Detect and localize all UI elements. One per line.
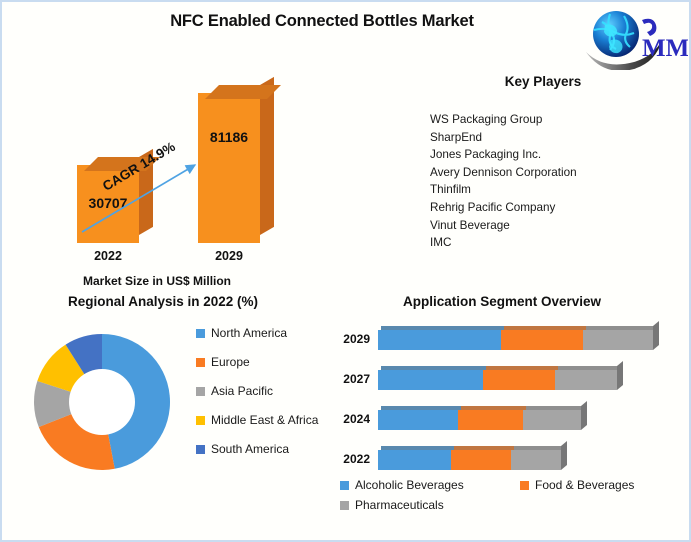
stacked-segment-pharmaceuticals — [511, 450, 561, 470]
legend-item-alcoholic-beverages: Alcoholic Beverages — [340, 478, 520, 492]
list-item: SharpEnd — [422, 129, 684, 147]
page-title: NFC Enabled Connected Bottles Market — [102, 12, 542, 31]
legend-label: Europe — [211, 355, 250, 370]
legend-label: Food & Beverages — [535, 478, 634, 492]
key-players-list: WS Packaging Group SharpEnd Jones Packag… — [422, 111, 684, 252]
stacked-segment-top — [381, 366, 486, 370]
stacked-segment-top — [586, 326, 656, 330]
list-item: Rehrig Pacific Company — [422, 199, 684, 217]
stacked-segment-food-beverages — [451, 450, 511, 470]
legend-swatch-alcoholic-beverages — [340, 481, 349, 490]
bar-2022-value: 30707 — [77, 195, 139, 211]
stacked-bar-year-label: 2027 — [334, 372, 370, 386]
mmr-logo: MMR — [580, 8, 688, 70]
stacked-segment-alcoholic-beverages — [378, 370, 483, 390]
bar-2029 — [198, 85, 274, 243]
stacked-segment-food-beverages — [483, 370, 555, 390]
application-segment-chart: Application Segment Overview 20292027202… — [332, 294, 688, 540]
market-size-bar-chart: 30707 2022 81186 2029 CAGR 14.9% Market … — [12, 77, 332, 287]
stacked-segment-top — [504, 326, 586, 330]
stacked-segment-top — [558, 366, 620, 370]
legend-label: Alcoholic Beverages — [355, 478, 464, 492]
stacked-segment-food-beverages — [501, 330, 583, 350]
legend-label: Pharmaceuticals — [355, 498, 444, 512]
stacked-bar-row: 2024 — [332, 402, 688, 442]
legend-swatch-food-beverages — [520, 481, 529, 490]
stacked-segment-top — [514, 446, 564, 450]
list-item: Avery Dennison Corporation — [422, 164, 684, 182]
cagr-arrow-icon — [12, 77, 332, 287]
stacked-bar-rows: 2029202720242022 — [332, 322, 688, 482]
stacked-segment-pharmaceuticals — [555, 370, 617, 390]
stacked-segment-top — [461, 406, 526, 410]
stacked-bar-row: 2027 — [332, 362, 688, 402]
list-item: WS Packaging Group — [422, 111, 684, 129]
donut-chart-title: Regional Analysis in 2022 (%) — [18, 294, 308, 309]
stacked-bar-year-label: 2029 — [334, 332, 370, 346]
legend-item-europe: Europe — [196, 355, 326, 370]
stacked-segment-top — [526, 406, 584, 410]
bar-2029-front — [198, 93, 260, 243]
legend-swatch-asia-pacific — [196, 387, 205, 396]
stacked-segment-top — [381, 446, 454, 450]
stacked-bar-end-cap — [653, 321, 659, 350]
list-item: IMC — [422, 234, 684, 252]
list-item: Vinut Beverage — [422, 217, 684, 235]
legend-swatch-pharmaceuticals — [340, 501, 349, 510]
stacked-segment-top — [381, 326, 504, 330]
legend-label: South America — [211, 442, 289, 457]
stacked-bar — [378, 406, 581, 430]
legend-label: Asia Pacific — [211, 384, 273, 399]
stacked-bar-row: 2022 — [332, 442, 688, 482]
stacked-segment-top — [454, 446, 514, 450]
legend-swatch-europe — [196, 358, 205, 367]
stacked-bar-year-label: 2024 — [334, 412, 370, 426]
stacked-segment-food-beverages — [458, 410, 523, 430]
list-item: Thinfilm — [422, 181, 684, 199]
legend-item-food-beverages: Food & Beverages — [520, 478, 680, 492]
legend-item-south-america: South America — [196, 442, 326, 457]
legend-item-north-america: North America — [196, 326, 326, 341]
key-players-panel: Key Players WS Packaging Group SharpEnd … — [422, 74, 684, 252]
legend-item-middle-east-africa: Middle East & Africa — [196, 413, 326, 428]
stacked-bar-year-label: 2022 — [334, 452, 370, 466]
stacked-bar — [378, 366, 617, 390]
regional-analysis-donut-chart: Regional Analysis in 2022 (%) North Amer… — [10, 294, 330, 540]
stacked-chart-title: Application Segment Overview — [332, 294, 672, 309]
svg-text:MMR: MMR — [642, 35, 688, 62]
stacked-segment-alcoholic-beverages — [378, 410, 458, 430]
legend-swatch-middle-east-africa — [196, 416, 205, 425]
bar-2022-year-label: 2022 — [73, 249, 143, 263]
stacked-bar-end-cap — [561, 441, 567, 470]
legend-item-asia-pacific: Asia Pacific — [196, 384, 326, 399]
donut-legend: North America Europe Asia Pacific Middle… — [196, 326, 326, 471]
stacked-segment-alcoholic-beverages — [378, 450, 451, 470]
stacked-segment-top — [381, 406, 461, 410]
bar-2029-side — [260, 77, 274, 235]
donut-svg — [22, 322, 182, 482]
bar-chart-axis-label: Market Size in US$ Million — [27, 274, 287, 288]
list-item: Jones Packaging Inc. — [422, 146, 684, 164]
infographic-root: NFC Enabled Connected Bottles Market — [0, 0, 691, 542]
stacked-segment-pharmaceuticals — [523, 410, 581, 430]
bar-2029-year-label: 2029 — [194, 249, 264, 263]
globe-swoosh-icon: MMR — [580, 8, 688, 70]
legend-swatch-north-america — [196, 329, 205, 338]
stacked-chart-legend: Alcoholic Beverages Food & Beverages Pha… — [340, 478, 686, 518]
legend-label: North America — [211, 326, 287, 341]
stacked-bar-end-cap — [581, 401, 587, 430]
legend-swatch-south-america — [196, 445, 205, 454]
bar-2029-value: 81186 — [198, 129, 260, 145]
legend-item-pharmaceuticals: Pharmaceuticals — [340, 498, 520, 512]
stacked-segment-pharmaceuticals — [583, 330, 653, 350]
stacked-bar-end-cap — [617, 361, 623, 390]
stacked-bar — [378, 326, 653, 350]
stacked-segment-alcoholic-beverages — [378, 330, 501, 350]
key-players-title: Key Players — [402, 74, 684, 89]
legend-label: Middle East & Africa — [211, 413, 318, 428]
stacked-segment-top — [486, 366, 558, 370]
stacked-bar — [378, 446, 561, 470]
stacked-bar-row: 2029 — [332, 322, 688, 362]
